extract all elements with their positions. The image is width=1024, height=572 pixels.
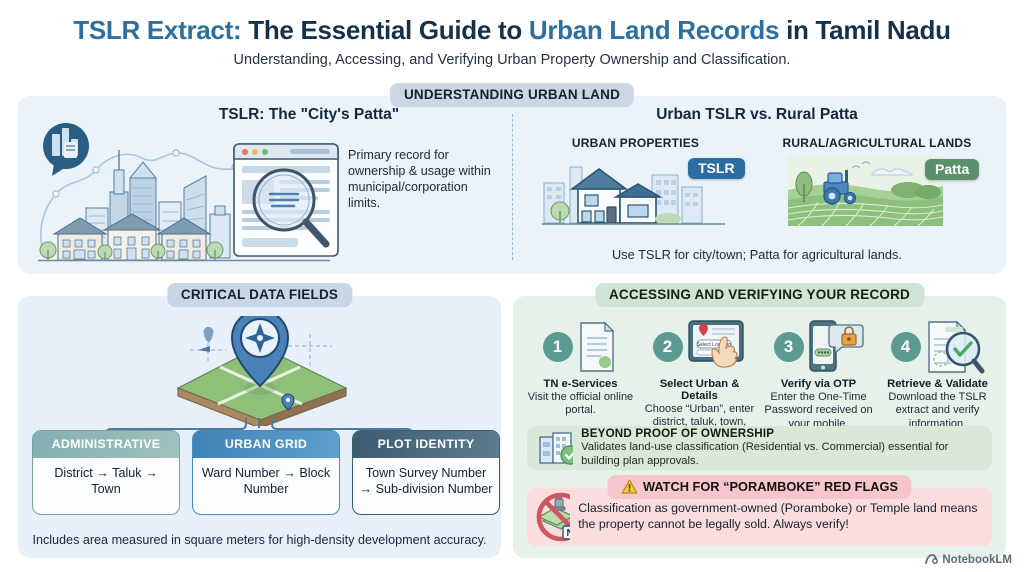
beyond-proof-title: BEYOND PROOF OF OWNERSHIP	[581, 427, 982, 440]
tablet-select-location-icon: Select Location	[685, 319, 747, 375]
card-administrative-body: District → Taluk → Town	[33, 458, 179, 514]
critical-cards: ADMINISTRATIVE District → Taluk → Town U…	[32, 430, 500, 515]
infographic-page: TSLR Extract: The Essential Guide to Urb…	[0, 0, 1024, 572]
step-4-number: 4	[891, 332, 921, 362]
step-2-title: Select Urban & Details	[640, 378, 759, 402]
no-label: NO	[567, 528, 571, 539]
title-accent-2: Urban Land Records	[529, 15, 779, 45]
building-check-icon	[537, 431, 573, 465]
section-badge-accessing: ACCESSING AND VERIFYING YOUR RECORD	[595, 283, 924, 307]
warning-triangle-icon	[621, 479, 637, 494]
notebooklm-watermark-label: NotebookLM	[942, 554, 1012, 566]
isometric-map-illustration	[160, 316, 360, 426]
section-critical-data-fields: CRITICAL DATA FIELDS	[18, 296, 501, 558]
section-understanding-urban-land: UNDERSTANDING URBAN LAND TSLR: The "City…	[18, 96, 1006, 274]
step-1-desc: Visit the official online portal.	[521, 391, 640, 418]
card-plot-identity-head: PLOT IDENTITY	[353, 431, 499, 458]
card-urban-grid-head: URBAN GRID	[193, 431, 339, 458]
step-4-title: Retrieve & Validate	[878, 378, 997, 390]
title-plain-1: The Essential Guide to	[241, 15, 529, 45]
use-tslr-caption: Use TSLR for city/town; Patta for agricu…	[518, 247, 996, 262]
section-badge-critical: CRITICAL DATA FIELDS	[167, 283, 352, 307]
page-title: TSLR Extract: The Essential Guide to Urb…	[0, 0, 1024, 46]
poramboke-warning-badge: WATCH FOR “PORAMBOKE” RED FLAGS	[607, 475, 912, 499]
notebooklm-watermark: NotebookLM	[925, 553, 1012, 566]
card-urban-grid: URBAN GRID Ward Number → Block Number	[192, 430, 340, 515]
page-subtitle: Understanding, Accessing, and Verifying …	[0, 52, 1024, 68]
card-plot-identity-body: Town Survey Number → Sub-division Number	[353, 458, 499, 514]
step-1-number: 1	[543, 332, 573, 362]
document-magnifier-illustration	[228, 138, 348, 260]
rural-farm-illustration	[788, 156, 943, 226]
step-4-visual: 4	[878, 318, 997, 376]
step-3: 3 Verify via OTP Enter the One-Time	[759, 318, 878, 443]
step-1-title: TN e-Services	[521, 378, 640, 390]
understanding-right: Urban TSLR vs. Rural Patta URBAN PROPERT…	[518, 106, 996, 264]
phone-otp-lock-icon	[806, 319, 864, 375]
section-badge-understanding: UNDERSTANDING URBAN LAND	[390, 83, 634, 107]
primary-record-description: Primary record for ownership & usage wit…	[348, 148, 498, 212]
step-3-title: Verify via OTP	[759, 378, 878, 390]
urban-properties-label: URBAN PROPERTIES	[528, 136, 743, 150]
section-accessing-verifying: ACCESSING AND VERIFYING YOUR RECORD 1	[513, 296, 1006, 558]
notebooklm-logo-icon	[925, 553, 938, 566]
step-2-visual: 2 Select Location	[640, 318, 759, 376]
step-3-number: 3	[774, 332, 804, 362]
poramboke-warning-label: WATCH FOR “PORAMBOKE” RED FLAGS	[643, 479, 898, 494]
step-3-visual: 3	[759, 318, 878, 376]
card-plot-identity: PLOT IDENTITY Town Survey Number → Sub-d…	[352, 430, 500, 515]
steps-list: 1 TN e-Services Visit the official onlin…	[521, 318, 999, 443]
critical-footnote: Includes area measured in square meters …	[18, 532, 501, 548]
beyond-proof-desc: Validates land-use classification (Resid…	[581, 441, 982, 468]
title-accent-1: TSLR Extract:	[73, 15, 241, 45]
step-2: 2 Select Location	[640, 318, 759, 443]
understanding-left: TSLR: The "City's Patta"	[30, 106, 500, 264]
beyond-proof-box: BEYOND PROOF OF OWNERSHIP Validates land…	[527, 426, 992, 470]
step-1: 1 TN e-Services Visit the official onlin…	[521, 318, 640, 443]
section-divider	[512, 114, 513, 260]
urban-vs-rural-heading: Urban TSLR vs. Rural Patta	[518, 106, 996, 124]
tslr-badge: TSLR	[688, 158, 745, 179]
document-icon	[575, 320, 619, 374]
poramboke-warning-text: Classification as government-owned (Pora…	[578, 501, 982, 532]
beyond-proof-text: BEYOND PROOF OF OWNERSHIP Validates land…	[581, 427, 982, 468]
step-1-visual: 1	[521, 318, 640, 376]
rural-lands-label: RURAL/AGRICULTURAL LANDS	[763, 136, 991, 150]
card-administrative: ADMINISTRATIVE District → Taluk → Town	[32, 430, 180, 515]
card-urban-grid-body: Ward Number → Block Number	[193, 458, 339, 514]
certificate-verified-icon	[923, 319, 985, 375]
no-sale-prohibited-icon: NO	[533, 491, 570, 543]
title-plain-2: in Tamil Nadu	[779, 15, 951, 45]
step-2-number: 2	[653, 332, 683, 362]
step-4: 4 Retrieve & V	[878, 318, 997, 443]
patta-badge: Patta	[925, 159, 979, 180]
card-administrative-head: ADMINISTRATIVE	[33, 431, 179, 458]
